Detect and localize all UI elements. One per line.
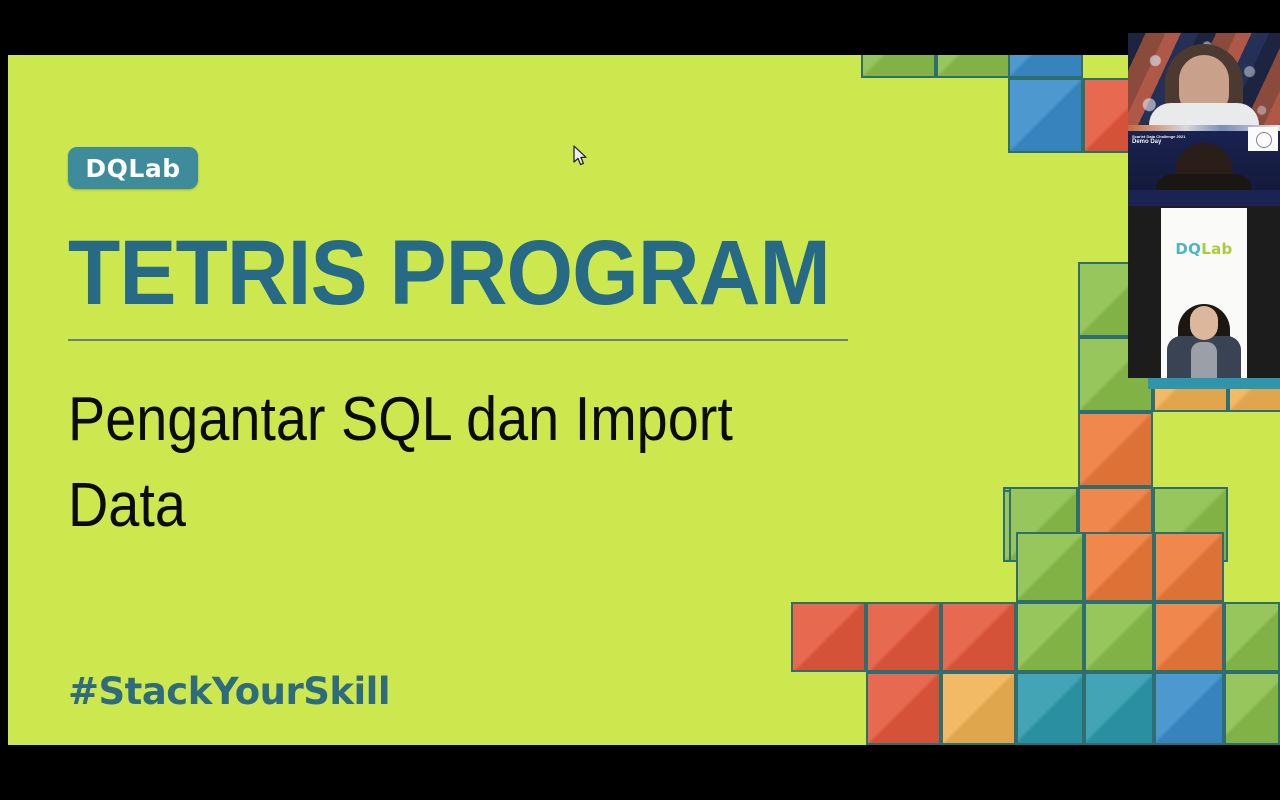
tetris-block [866,672,941,745]
participant-tile-2[interactable]: Scarlet Data Challenge 2021 Demo Day [1128,125,1280,190]
tetris-block [1008,78,1083,153]
slide-hashtag: #StackYourSkill [68,670,390,713]
tetris-block [1016,602,1084,672]
participant-2-caption-line2: Demo Day [1132,139,1185,147]
tetris-block [791,602,866,672]
slide-title: TETRIS PROGRAM [68,227,830,319]
tetris-block [936,55,1011,78]
backdrop-logo-lab: Lab [1201,240,1232,258]
tetris-block [1078,487,1153,562]
tetris-block [1008,55,1083,78]
participant-tile-1[interactable] [1128,0,1280,125]
presentation-slide[interactable]: DQLab TETRIS PROGRAM Pengantar SQL dan I… [8,55,1280,745]
tetris-block [1078,412,1153,487]
participant-2-body [1156,174,1252,190]
tetris-block [1154,672,1224,745]
participant-2-caption: Scarlet Data Challenge 2021 Demo Day [1132,134,1185,147]
tetris-block [1224,672,1280,745]
tetris-block [1084,532,1154,602]
participant-1-body [1149,103,1259,125]
dqlab-logo-text: DQLab [85,154,180,183]
participant-2-seal-box [1248,127,1278,151]
tetris-block [1003,487,1078,562]
participant-3-face [1190,306,1218,340]
mouse-cursor-icon [572,145,588,167]
tetris-block [941,602,1016,672]
participant-3-topband [1128,190,1280,206]
screen-root: DQLab TETRIS PROGRAM Pengantar SQL dan I… [0,0,1280,800]
tetris-block [941,672,1016,745]
tetris-block [861,55,936,78]
tetris-block [1003,490,1078,562]
tetris-block [1084,602,1154,672]
organization-seal-icon [1256,132,1272,148]
tetris-block [1016,672,1084,745]
participant-3-top [1191,342,1217,378]
backdrop-dqlab-logo: DQLab [1161,240,1247,258]
dqlab-logo-badge: DQLab [68,147,198,189]
tetris-block [1154,602,1224,672]
tetris-block [1009,487,1078,562]
title-divider [68,339,848,341]
tetris-block [1154,532,1224,602]
tetris-block [1153,487,1228,562]
participant-tile-3[interactable]: DQLab [1128,190,1280,378]
backdrop-logo-dq: DQ [1175,240,1201,258]
slide-teal-band [1148,378,1280,389]
slide-subtitle: Pengantar SQL dan Import Data [68,377,860,548]
tetris-block [1016,532,1084,602]
tetris-block [1224,602,1280,672]
participant-3-backdrop: DQLab [1161,208,1247,378]
tetris-block [1084,672,1154,745]
tetris-block [866,602,941,672]
